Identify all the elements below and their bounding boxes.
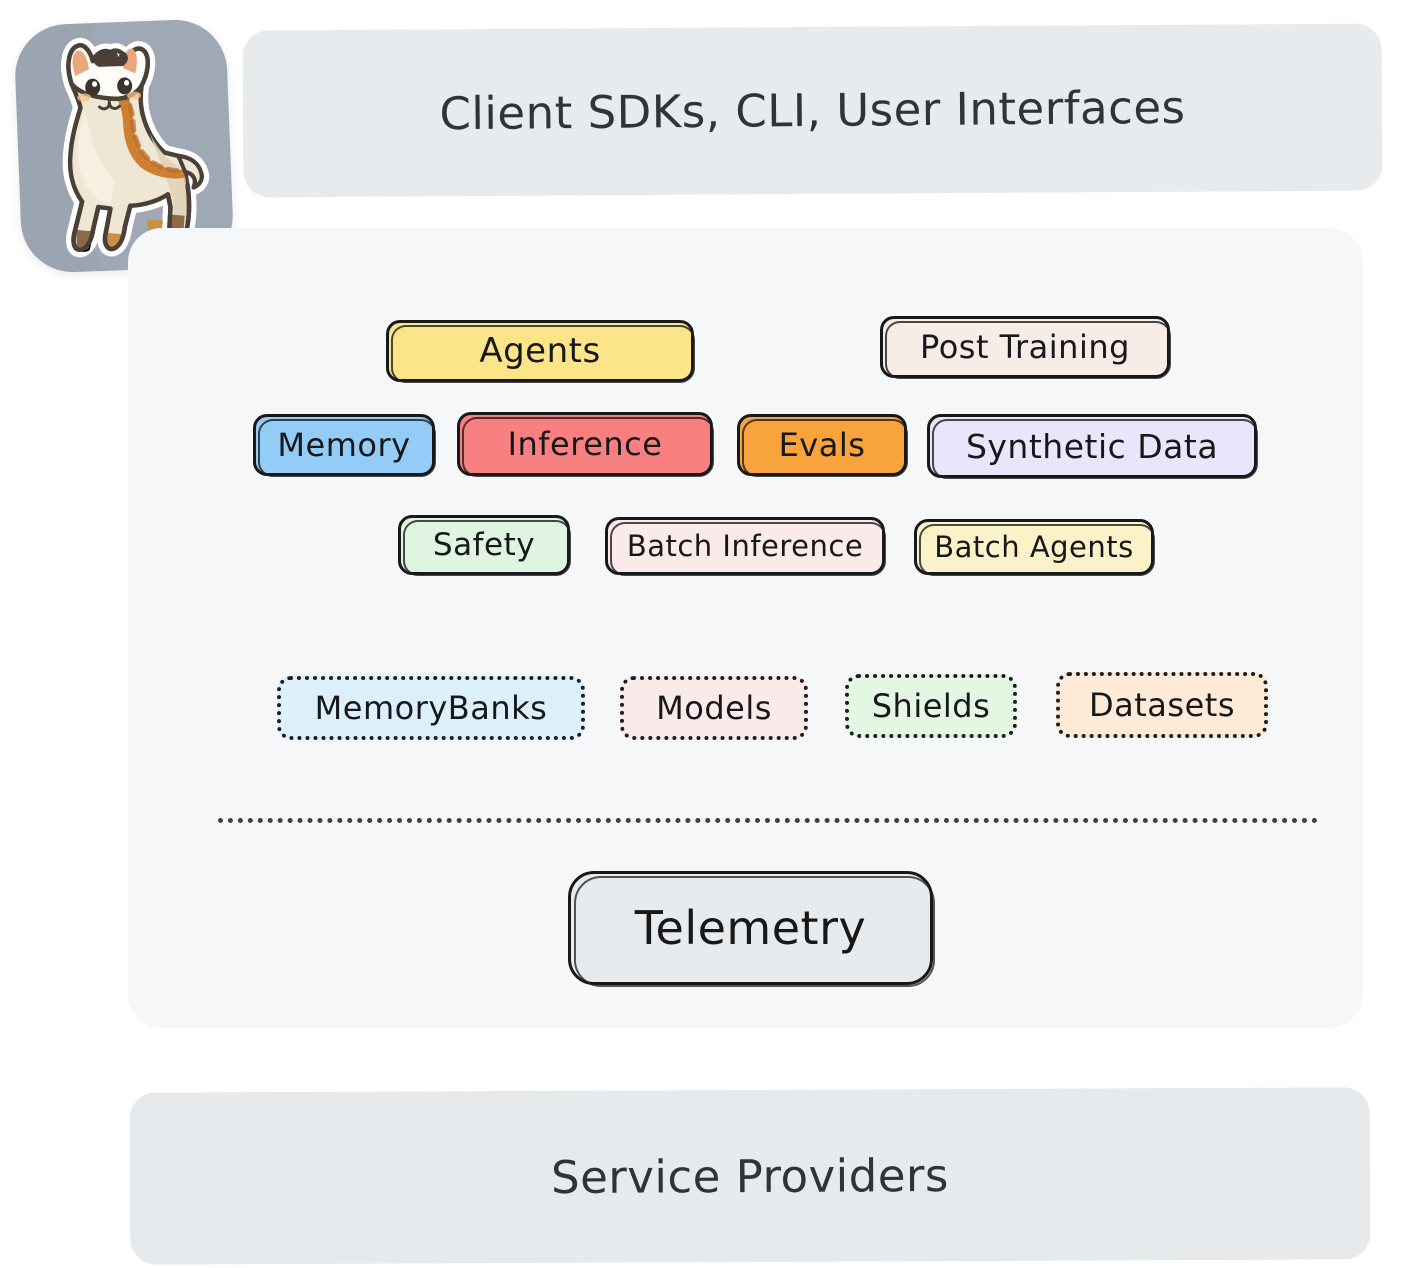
- api-box-evals[interactable]: Evals: [737, 414, 907, 476]
- api-box-safety[interactable]: Safety: [398, 515, 570, 575]
- api-box-batch-inference[interactable]: Batch Inference: [605, 517, 885, 575]
- resource-box-datasets[interactable]: Datasets: [1056, 672, 1268, 738]
- api-box-inference[interactable]: Inference: [457, 412, 713, 476]
- section-divider: [218, 818, 1318, 823]
- api-box-agents[interactable]: Agents: [386, 320, 694, 382]
- resource-box-models[interactable]: Models: [620, 676, 808, 740]
- api-box-post-training[interactable]: Post Training: [880, 316, 1170, 378]
- client-layer-label: Client SDKs, CLI, User Interfaces: [242, 22, 1382, 199]
- telemetry-box[interactable]: Telemetry: [568, 871, 933, 985]
- api-box-batch-agents[interactable]: Batch Agents: [914, 519, 1154, 575]
- api-box-synthetic-data[interactable]: Synthetic Data: [927, 414, 1257, 478]
- service-providers-label: Service Providers: [130, 1087, 1371, 1265]
- resource-box-shields[interactable]: Shields: [845, 674, 1017, 738]
- resource-box-memorybanks[interactable]: MemoryBanks: [277, 676, 585, 740]
- api-box-memory[interactable]: Memory: [253, 414, 435, 476]
